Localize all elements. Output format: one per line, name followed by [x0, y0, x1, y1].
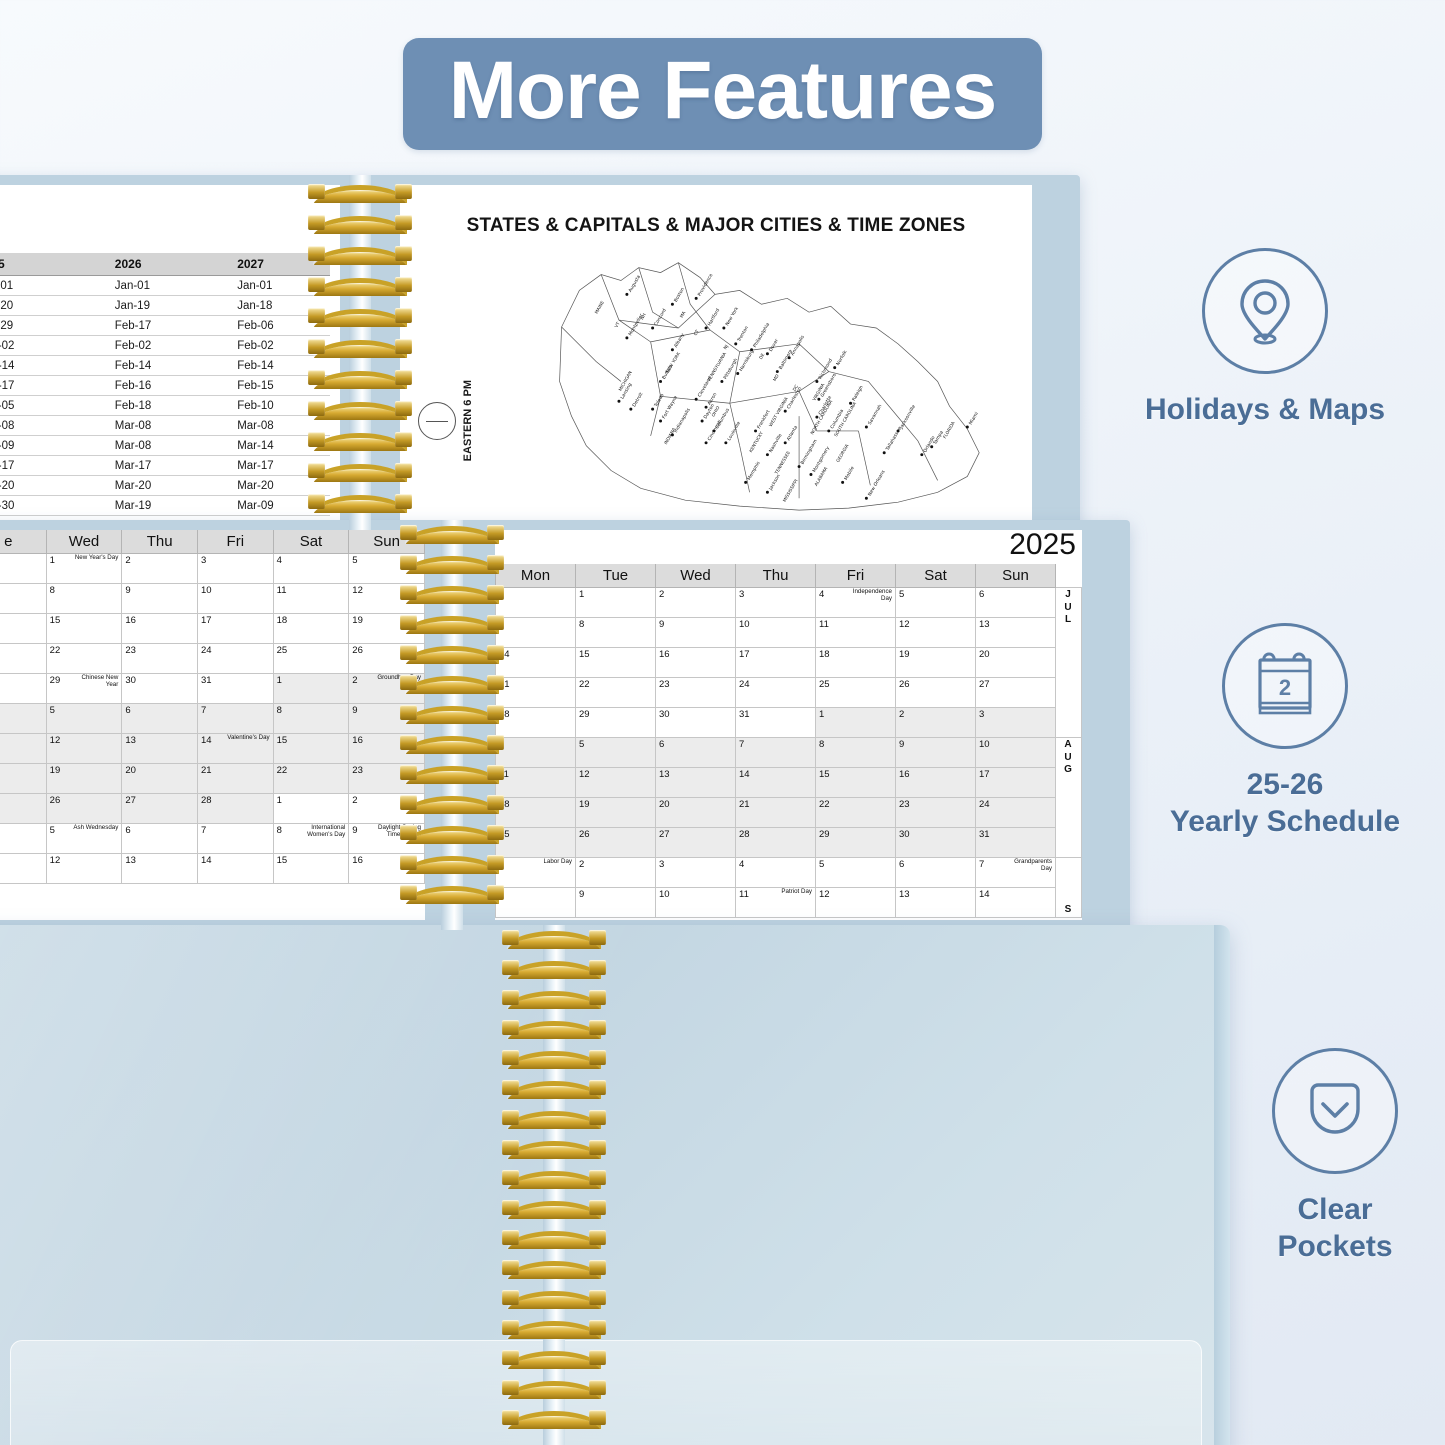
spiral-coil: [402, 706, 502, 721]
calendar-day-cell[interactable]: 22: [576, 678, 656, 708]
calendar-day-number: 9: [352, 825, 357, 836]
coil-cap: [589, 1380, 606, 1395]
calendar-weekday-header: Tue: [576, 564, 656, 588]
spiral-coil: [504, 1381, 604, 1396]
calendar-week-row: 1920212223: [0, 764, 425, 794]
calendar-day-cell[interactable]: 2: [122, 554, 198, 584]
calendar-day-cell[interactable]: 6: [976, 588, 1056, 618]
table-row: Mar-30Mar-19Mar-09: [0, 496, 330, 516]
calendar-day-number: 10: [739, 619, 750, 630]
coil-cap: [308, 215, 325, 230]
calendar-week-row: 29Chinese New Year303112Groundhog Day: [0, 674, 425, 704]
coil-cap: [502, 990, 519, 1005]
coil-cap: [400, 645, 417, 660]
calendar-weekday-header: Sun: [976, 564, 1056, 588]
calendar-day-number: 23: [125, 645, 136, 656]
calendar-day-cell[interactable]: 8: [576, 618, 656, 648]
calendar-day-cell[interactable]: 7Grandparents Day: [976, 858, 1056, 888]
calendar-day-number: 30: [125, 675, 136, 686]
timezone-legend: EASTERN 6 PM: [418, 380, 487, 461]
holiday-col-header: 2026: [107, 253, 229, 276]
calendar-day-cell[interactable]: 21: [736, 798, 816, 828]
calendar-day-number: 13: [125, 735, 136, 746]
calendar-day-cell[interactable]: 22: [273, 764, 349, 794]
coil-cap: [502, 1080, 519, 1095]
calendar-day-cell[interactable]: 24: [197, 644, 273, 674]
calendar-day-cell[interactable]: 14: [197, 854, 273, 884]
holiday-date-cell: Mar-30: [0, 496, 107, 516]
calendar-day-cell[interactable]: 9: [122, 584, 198, 614]
calendar-day-cell[interactable]: 11: [816, 618, 896, 648]
calendar-day-cell[interactable]: [0, 614, 46, 644]
calendar-weekday-header: Thu: [122, 530, 198, 554]
spiral-coil: [504, 1321, 604, 1336]
calendar-day-number: 7: [979, 859, 984, 870]
calendar-weekday-header: Wed: [46, 530, 122, 554]
calendar-day-number: 10: [659, 889, 670, 900]
spiral-coil: [402, 586, 502, 601]
calendar-day-number: 24: [739, 679, 750, 690]
calendar-holiday-label: New Year's Day: [75, 555, 118, 562]
calendar-day-cell[interactable]: 15: [46, 614, 122, 644]
coil-cap: [400, 675, 417, 690]
calendar-day-cell[interactable]: 20: [122, 764, 198, 794]
coil-cap: [400, 555, 417, 570]
coil-cap: [395, 184, 412, 199]
calendar-day-number: 4: [277, 555, 282, 566]
calendar-day-number: 16: [659, 649, 670, 660]
coil-cap: [502, 1110, 519, 1125]
calendar-day-cell[interactable]: [0, 764, 46, 794]
calendar-day-number: 11: [739, 889, 749, 900]
spiral-coil: [402, 766, 502, 781]
calendar-day-cell[interactable]: 24: [976, 798, 1056, 828]
calendar-day-cell[interactable]: 16: [656, 648, 736, 678]
calendar-day-cell[interactable]: 8: [816, 738, 896, 768]
calendar-day-number: 9: [352, 705, 357, 716]
holiday-date-cell: Mar-20: [0, 476, 107, 496]
calendar-day-cell[interactable]: 25: [816, 678, 896, 708]
calendar-day-number: 10: [979, 739, 990, 750]
calendar-day-cell[interactable]: 20: [656, 798, 736, 828]
calendar-day-cell[interactable]: 31: [976, 828, 1056, 858]
calendar-weekday-header: e: [0, 530, 46, 554]
calendar-day-number: 9: [899, 739, 904, 750]
calendar-day-cell[interactable]: 28: [496, 708, 576, 738]
calendar-day-cell[interactable]: 6: [896, 858, 976, 888]
calendar-day-cell[interactable]: 7: [197, 704, 273, 734]
calendar-day-number: 12: [899, 619, 910, 630]
calendar-day-cell[interactable]: 6: [656, 738, 736, 768]
calendar-week-row: 121314Valentine's Day1516: [0, 734, 425, 764]
calendar-day-cell[interactable]: 15: [576, 648, 656, 678]
spiral-coil: [310, 495, 410, 510]
calendar-day-cell[interactable]: 21: [496, 678, 576, 708]
calendar-weekday-header: Sat: [273, 530, 349, 554]
coil-cap: [589, 1080, 606, 1095]
calendar-day-number: 15: [277, 735, 288, 746]
coil-cap: [308, 184, 325, 199]
calendar-day-cell[interactable]: 2: [576, 858, 656, 888]
calendar-day-number: 31: [739, 709, 750, 720]
calendar-day-cell[interactable]: 22: [46, 644, 122, 674]
calendar-day-cell[interactable]: 3: [736, 588, 816, 618]
calendar-day-cell[interactable]: [0, 644, 46, 674]
timezone-name: EASTERN: [462, 409, 474, 462]
calendar-day-cell[interactable]: [0, 824, 46, 854]
month-tab[interactable]: J U L: [1056, 588, 1082, 738]
calendar-day-cell[interactable]: 23: [656, 678, 736, 708]
spiral-coil: [310, 216, 410, 231]
month-tab[interactable]: S: [1056, 858, 1082, 918]
spiral-coil: [402, 736, 502, 751]
coil-cap: [400, 615, 417, 630]
calendar-day-cell[interactable]: 13: [122, 854, 198, 884]
calendar-day-cell[interactable]: 1: [576, 588, 656, 618]
table-row: Jan-29Feb-17Feb-06: [0, 316, 330, 336]
calendar-day-number: 23: [659, 679, 670, 690]
coil-cap: [395, 246, 412, 261]
coil-cap: [487, 645, 504, 660]
coil-cap: [502, 1380, 519, 1395]
feature-clear-pockets: Clear Pockets: [1180, 1048, 1445, 1265]
calendar-day-cell[interactable]: 20: [976, 648, 1056, 678]
calendar-day-cell[interactable]: 12: [896, 618, 976, 648]
table-row: Mar-05Feb-18Feb-10: [0, 396, 330, 416]
calendar-day-cell[interactable]: 10: [976, 738, 1056, 768]
calendar-day-cell[interactable]: 19: [576, 798, 656, 828]
coil-cap: [502, 1350, 519, 1365]
calendar-day-cell[interactable]: [0, 674, 46, 704]
calendar-day-cell[interactable]: 13: [896, 888, 976, 918]
calendar-day-cell[interactable]: 13: [656, 768, 736, 798]
calendar-day-cell[interactable]: 25: [496, 828, 576, 858]
calendar-day-cell[interactable]: 31: [736, 708, 816, 738]
calendar-day-number: 9: [659, 619, 664, 630]
calendar-day-cell[interactable]: 15: [816, 768, 896, 798]
calendar-day-cell[interactable]: 12: [46, 734, 122, 764]
table-row: Jan-01Jan-01Jan-01: [0, 276, 330, 296]
calendar-day-cell[interactable]: 16: [122, 614, 198, 644]
calendar-day-cell[interactable]: 14: [496, 648, 576, 678]
calendar-left-grid: eWedThuFriSatSun 1New Year's Day23458910…: [0, 530, 425, 884]
calendar-day-number: 3: [979, 709, 984, 720]
holiday-date-cell: Mar-20: [107, 476, 229, 496]
calendar-day-cell[interactable]: 29: [576, 708, 656, 738]
calendar-day-number: 14: [201, 735, 212, 746]
coil-cap: [400, 855, 417, 870]
calendar-day-cell[interactable]: 23: [896, 798, 976, 828]
calendar-day-cell[interactable]: 14: [736, 768, 816, 798]
coil-cap: [502, 1020, 519, 1035]
coil-cap: [589, 1140, 606, 1155]
calendar-day-cell[interactable]: 18: [496, 798, 576, 828]
calendar-week-row: 1516171819: [0, 614, 425, 644]
coil-cap: [589, 1350, 606, 1365]
calendar-day-cell[interactable]: 5: [816, 858, 896, 888]
spiral-coil: [402, 826, 502, 841]
calendar-day-cell[interactable]: 25: [273, 644, 349, 674]
coil-cap: [589, 1230, 606, 1245]
calendar-day-cell[interactable]: 29Chinese New Year: [46, 674, 122, 704]
holiday-date-cell: Feb-17: [0, 376, 107, 396]
calendar-day-number: 19: [50, 765, 61, 776]
pocket-icon: [1300, 1077, 1370, 1145]
calendar-day-number: 19: [579, 799, 590, 810]
calendar-day-cell[interactable]: 1: [273, 794, 349, 824]
coil-cap: [308, 308, 325, 323]
calendar-day-cell[interactable]: 4: [496, 738, 576, 768]
calendar-day-number: 17: [979, 769, 990, 780]
calendar-day-cell[interactable]: 29: [816, 828, 896, 858]
calendar-day-cell[interactable]: 11: [496, 768, 576, 798]
spiral-coil: [310, 464, 410, 479]
calendar-day-cell[interactable]: 12: [816, 888, 896, 918]
calendar-day-cell[interactable]: 7: [736, 738, 816, 768]
calendar-day-cell[interactable]: 26: [896, 678, 976, 708]
coil-cap: [400, 735, 417, 750]
calendar-day-cell[interactable]: 31: [197, 674, 273, 704]
calendar-day-cell[interactable]: 9: [656, 618, 736, 648]
calendar-holiday-label: Independence Day: [843, 589, 892, 602]
table-row: Feb-14Feb-14Feb-14: [0, 356, 330, 376]
calendar-day-number: 8: [819, 739, 824, 750]
calendar-day-cell[interactable]: [0, 734, 46, 764]
spiral-coil: [504, 1171, 604, 1186]
calendar-day-number: 2: [899, 709, 904, 720]
calendar-day-cell[interactable]: 2: [896, 708, 976, 738]
coil-cap: [395, 277, 412, 292]
calendar-day-number: 1: [579, 589, 584, 600]
calendar-day-cell[interactable]: 1: [273, 674, 349, 704]
table-row: Mar-09Mar-08Mar-14: [0, 436, 330, 456]
calendar-day-cell[interactable]: 15: [273, 734, 349, 764]
calendar-day-number: 13: [659, 769, 670, 780]
spiral-coil: [504, 1291, 604, 1306]
calendar-day-cell[interactable]: 30: [122, 674, 198, 704]
calendar-day-number: 4: [819, 589, 824, 600]
calendar-day-cell[interactable]: 10: [736, 618, 816, 648]
calendar-day-cell[interactable]: 1Labor Day: [496, 858, 576, 888]
calendar-day-cell[interactable]: 6: [122, 824, 198, 854]
calendar-day-number: 5: [50, 825, 55, 836]
calendar-day-cell[interactable]: 9: [896, 738, 976, 768]
calendar-day-number: 2: [352, 795, 357, 806]
calendar-day-cell[interactable]: [0, 554, 46, 584]
calendar-day-cell[interactable]: 18: [816, 648, 896, 678]
holiday-date-cell: Feb-17: [107, 316, 229, 336]
calendar-day-cell[interactable]: 10: [656, 888, 736, 918]
holiday-date-cell: Feb-02: [0, 336, 107, 356]
calendar-day-number: 6: [125, 825, 130, 836]
calendar-day-cell[interactable]: 4Independence Day: [816, 588, 896, 618]
calendar-day-cell[interactable]: [0, 704, 46, 734]
map-pin-icon: [1233, 275, 1297, 347]
calendar-day-cell[interactable]: 27: [976, 678, 1056, 708]
coil-cap: [400, 765, 417, 780]
calendar-day-cell[interactable]: 8: [273, 704, 349, 734]
calendar-day-cell[interactable]: 6: [122, 704, 198, 734]
calendar-day-cell[interactable]: 19: [896, 648, 976, 678]
calendar-day-cell[interactable]: 19: [46, 764, 122, 794]
calendar-day-cell[interactable]: 17: [736, 648, 816, 678]
calendar-day-cell[interactable]: 28: [736, 828, 816, 858]
holiday-date-cell: Feb-16: [107, 376, 229, 396]
calendar-day-cell[interactable]: 11Patriot Day: [736, 888, 816, 918]
calendar-day-number: 3: [739, 589, 744, 600]
calendar-day-cell[interactable]: 8: [46, 584, 122, 614]
calendar-day-cell[interactable]: 21: [197, 764, 273, 794]
calendar-day-number: 12: [50, 855, 61, 866]
calendar-day-cell[interactable]: 11: [273, 584, 349, 614]
calendar-day-number: 7: [201, 705, 206, 716]
coil-cap: [487, 555, 504, 570]
calendar-day-number: 31: [979, 829, 990, 840]
calendar-day-cell[interactable]: 8: [496, 888, 576, 918]
calendar-day-cell[interactable]: 7: [496, 618, 576, 648]
calendar-day-cell[interactable]: 26: [46, 794, 122, 824]
calendar-week-row: 14151617181920: [496, 648, 1082, 678]
page-title: More Features: [449, 48, 997, 134]
calendar-day-cell[interactable]: 9: [576, 888, 656, 918]
calendar-day-cell[interactable]: 23: [122, 644, 198, 674]
calendar-day-cell[interactable]: 12: [46, 854, 122, 884]
coil-cap: [502, 1320, 519, 1335]
calendar-day-cell[interactable]: 5: [896, 588, 976, 618]
coil-cap: [308, 463, 325, 478]
coil-cap: [395, 308, 412, 323]
coil-cap: [589, 1050, 606, 1065]
coil-cap: [589, 1110, 606, 1125]
calendar-day-cell[interactable]: 30: [656, 708, 736, 738]
calendar-year-label: 2025: [495, 530, 1082, 560]
coil-cap: [502, 1200, 519, 1215]
calendar-day-number: 26: [899, 679, 910, 690]
calendar-day-cell[interactable]: [496, 588, 576, 618]
spiral-coil: [402, 676, 502, 691]
holiday-date-cell: Jan-01: [107, 276, 229, 296]
calendar-day-cell[interactable]: 27: [122, 794, 198, 824]
calendar-day-number: 21: [201, 765, 212, 776]
calendar-day-number: 28: [739, 829, 750, 840]
calendar-day-cell[interactable]: 3: [656, 858, 736, 888]
spiral-coil: [504, 991, 604, 1006]
calendar-day-cell[interactable]: 3: [976, 708, 1056, 738]
spiral-coil: [504, 1051, 604, 1066]
calendar-holiday-label: Grandparents Day: [1003, 859, 1052, 872]
calendar-day-number: 18: [819, 649, 830, 660]
calendar-day-cell[interactable]: 18: [273, 614, 349, 644]
calendar-day-number: 9: [125, 585, 130, 596]
calendar-day-cell[interactable]: 1: [816, 708, 896, 738]
calendar-day-cell[interactable]: 27: [656, 828, 736, 858]
coil-cap: [589, 1170, 606, 1185]
calendar-week-row: 18192021222324: [496, 798, 1082, 828]
coil-cap: [308, 432, 325, 447]
coil-cap: [487, 885, 504, 900]
calendar-day-cell[interactable]: 13: [122, 734, 198, 764]
coil-cap: [308, 370, 325, 385]
calendar-day-cell[interactable]: 13: [976, 618, 1056, 648]
banner-pill: More Features: [403, 38, 1043, 150]
coil-cap: [400, 795, 417, 810]
calendar-day-cell[interactable]: 1New Year's Day: [46, 554, 122, 584]
calendar-day-cell[interactable]: 26: [576, 828, 656, 858]
holiday-col-header: 2025: [0, 253, 107, 276]
calendar-day-cell[interactable]: 8International Women's Day: [273, 824, 349, 854]
calendar-day-cell[interactable]: 28: [197, 794, 273, 824]
calendar-day-cell[interactable]: 17: [976, 768, 1056, 798]
calendar-day-cell[interactable]: 10: [197, 584, 273, 614]
holiday-date-cell: Mar-19: [107, 496, 229, 516]
calendar-day-cell[interactable]: 12: [576, 768, 656, 798]
calendar-day-cell[interactable]: 5: [46, 704, 122, 734]
coil-cap: [589, 1410, 606, 1425]
calendar-day-cell[interactable]: 22: [816, 798, 896, 828]
calendar-day-cell[interactable]: 14: [976, 888, 1056, 918]
calendar-day-cell[interactable]: 17: [197, 614, 273, 644]
calendar-day-cell[interactable]: 4: [736, 858, 816, 888]
coil-cap: [502, 960, 519, 975]
calendar-day-cell[interactable]: 16: [896, 768, 976, 798]
calendar-day-cell[interactable]: 7: [197, 824, 273, 854]
calendar-holiday-label: Labor Day: [543, 859, 572, 866]
calendar-day-number: 23: [899, 799, 910, 810]
spiral-coil: [402, 526, 502, 541]
spiral-coil: [504, 1351, 604, 1366]
coil-cap: [502, 1290, 519, 1305]
spiral-coil: [310, 278, 410, 293]
calendar-day-number: 30: [659, 709, 670, 720]
coil-cap: [487, 675, 504, 690]
spiral-coil: [402, 886, 502, 901]
calendar-day-number: 28: [201, 795, 212, 806]
feature-label: 25-26 Yearly Schedule: [1130, 767, 1440, 840]
calendar-day-cell[interactable]: 14Valentine's Day: [197, 734, 273, 764]
calendar-day-number: 5: [579, 739, 584, 750]
calendar-day-number: 27: [125, 795, 136, 806]
calendar-day-cell[interactable]: 30: [896, 828, 976, 858]
calendar-day-number: 12: [819, 889, 830, 900]
holiday-date-cell: Feb-14: [0, 356, 107, 376]
calendar-day-number: 21: [739, 799, 750, 810]
calendar-day-cell[interactable]: 3: [197, 554, 273, 584]
calendar-holiday-label: Ash Wednesday: [73, 825, 118, 832]
coil-cap: [400, 885, 417, 900]
calendar-day-cell[interactable]: 15: [273, 854, 349, 884]
calendar-day-cell[interactable]: 24: [736, 678, 816, 708]
calendar-day-cell[interactable]: [0, 794, 46, 824]
calendar-day-number: 16: [352, 735, 363, 746]
calendar-day-cell[interactable]: [0, 854, 46, 884]
feature-yearly-schedule: 2 25-26 Yearly Schedule: [1130, 623, 1440, 840]
calendar-day-number: 3: [201, 555, 206, 566]
month-tab[interactable]: A U G: [1056, 738, 1082, 858]
calendar-day-cell[interactable]: 4: [273, 554, 349, 584]
calendar-day-cell[interactable]: 5Ash Wednesday: [46, 824, 122, 854]
header-banner: More Features: [0, 38, 1445, 150]
holiday-table-body: Jan-01Jan-01Jan-01Jan-20Jan-19Jan-18Jan-…: [0, 276, 330, 521]
calendar-day-number: 12: [579, 769, 590, 780]
calendar-day-number: 19: [352, 615, 363, 626]
calendar-day-cell[interactable]: 5: [576, 738, 656, 768]
calendar-day-cell[interactable]: [0, 584, 46, 614]
calendar-weekday-header: Mon: [496, 564, 576, 588]
calendar-day-number: 4: [739, 859, 744, 870]
calendar-day-cell[interactable]: 2: [656, 588, 736, 618]
coil-cap: [589, 1290, 606, 1305]
calendar-badge-number: 2: [1279, 675, 1291, 700]
